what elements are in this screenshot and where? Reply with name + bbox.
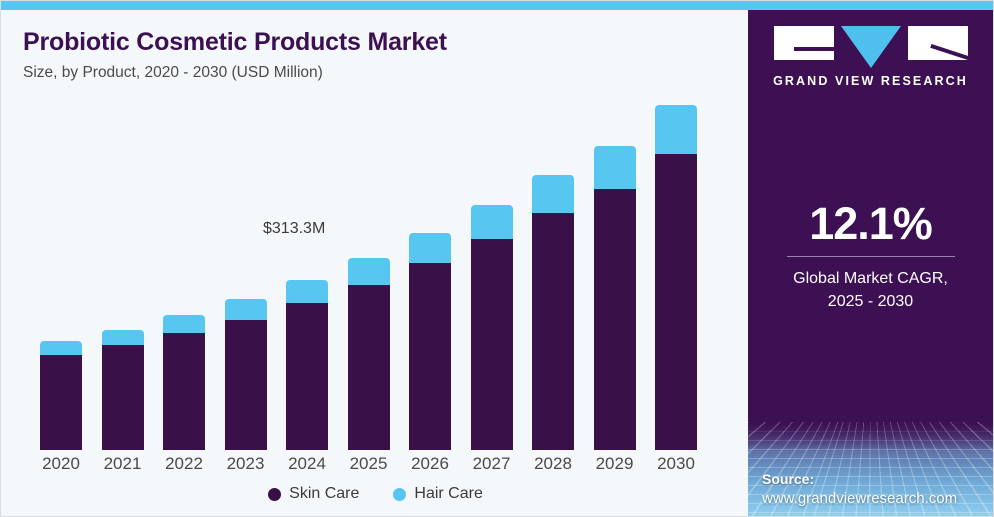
x-axis-tick-2021: 2021 xyxy=(95,454,151,474)
legend-item-hair-care[interactable]: Hair Care xyxy=(393,485,482,503)
cagr-divider xyxy=(787,256,955,257)
bar-segment-skin-care-2022[interactable] xyxy=(163,333,205,450)
cagr-value: 12.1% xyxy=(748,200,993,247)
bar-segment-skin-care-2029[interactable] xyxy=(594,189,636,450)
bar-segment-skin-care-2030[interactable] xyxy=(655,154,697,450)
legend-item-skin-care[interactable]: Skin Care xyxy=(268,485,359,503)
bar-segment-hair-care-2024[interactable] xyxy=(286,280,328,303)
x-axis-tick-2025: 2025 xyxy=(341,454,397,474)
x-axis-tick-2023: 2023 xyxy=(218,454,274,474)
bar-2027[interactable] xyxy=(471,205,513,450)
legend-swatch-icon xyxy=(393,488,406,501)
bar-segment-hair-care-2028[interactable] xyxy=(532,175,574,214)
page-subtitle: Size, by Product, 2020 - 2030 (USD Milli… xyxy=(23,64,323,82)
bar-2025[interactable] xyxy=(348,258,390,450)
x-axis-tick-2027: 2027 xyxy=(464,454,520,474)
data-label-2024: $313.3M xyxy=(263,220,325,238)
bar-segment-skin-care-2020[interactable] xyxy=(40,355,82,450)
bar-2030[interactable] xyxy=(655,105,697,450)
page-title: Probiotic Cosmetic Products Market xyxy=(23,28,447,57)
plot-area: $313.3M xyxy=(1,90,750,450)
bar-segment-hair-care-2022[interactable] xyxy=(163,315,205,333)
cagr-callout: 12.1% Global Market CAGR, 2025 - 2030 xyxy=(748,200,993,314)
bar-2028[interactable] xyxy=(532,175,574,450)
x-axis-tick-2020: 2020 xyxy=(33,454,89,474)
x-axis-tick-2022: 2022 xyxy=(156,454,212,474)
bar-segment-hair-care-2030[interactable] xyxy=(655,105,697,154)
bar-segment-skin-care-2025[interactable] xyxy=(348,285,390,450)
x-axis-tick-2028: 2028 xyxy=(525,454,581,474)
triangle-v-icon xyxy=(841,26,901,68)
bar-segment-hair-care-2025[interactable] xyxy=(348,258,390,285)
bar-segment-hair-care-2023[interactable] xyxy=(225,299,267,320)
bar-2024[interactable] xyxy=(286,280,328,450)
bar-segment-skin-care-2027[interactable] xyxy=(471,239,513,450)
bar-segment-skin-care-2023[interactable] xyxy=(225,320,267,450)
bar-2026[interactable] xyxy=(409,233,451,450)
bar-segment-skin-care-2024[interactable] xyxy=(286,303,328,450)
brand-side-panel: GRAND VIEW RESEARCH 12.1% Global Market … xyxy=(748,10,993,517)
cagr-caption-line-1: Global Market CAGR, xyxy=(748,267,993,290)
bar-segment-skin-care-2021[interactable] xyxy=(102,345,144,450)
source-block: Source: www.grandviewresearch.com xyxy=(762,470,957,508)
x-axis: 2020202120222023202420252026202720282029… xyxy=(1,450,750,482)
bar-segment-hair-care-2020[interactable] xyxy=(40,341,82,355)
logo-wordmark: GRAND VIEW RESEARCH xyxy=(748,74,993,88)
bar-2021[interactable] xyxy=(102,330,144,450)
source-footer: Source: www.grandviewresearch.com xyxy=(748,422,993,517)
bar-segment-hair-care-2021[interactable] xyxy=(102,330,144,345)
letter-g-icon xyxy=(774,26,834,60)
bar-2023[interactable] xyxy=(225,299,267,450)
bar-segment-hair-care-2027[interactable] xyxy=(471,205,513,239)
source-label: Source: xyxy=(762,470,957,488)
logo-marks xyxy=(748,26,993,62)
x-axis-tick-2026: 2026 xyxy=(402,454,458,474)
legend-label: Skin Care xyxy=(289,485,359,503)
x-axis-tick-2024: 2024 xyxy=(279,454,335,474)
bar-segment-skin-care-2026[interactable] xyxy=(409,263,451,450)
bar-segment-hair-care-2029[interactable] xyxy=(594,146,636,189)
letter-r-icon xyxy=(908,26,968,60)
chart-legend: Skin CareHair Care xyxy=(1,485,750,503)
footer-gradient-fade xyxy=(748,422,993,452)
cagr-caption-line-2: 2025 - 2030 xyxy=(748,290,993,313)
gvr-logo: GRAND VIEW RESEARCH xyxy=(748,26,993,88)
bar-2029[interactable] xyxy=(594,146,636,450)
x-axis-tick-2029: 2029 xyxy=(587,454,643,474)
legend-swatch-icon xyxy=(268,488,281,501)
bar-2022[interactable] xyxy=(163,315,205,450)
chart-screenshot: Probiotic Cosmetic Products Market Size,… xyxy=(0,0,994,517)
legend-label: Hair Care xyxy=(414,485,482,503)
source-url[interactable]: www.grandviewresearch.com xyxy=(762,489,957,509)
x-axis-tick-2030: 2030 xyxy=(648,454,704,474)
top-accent-bar xyxy=(1,1,994,10)
cagr-caption: Global Market CAGR, 2025 - 2030 xyxy=(748,267,993,313)
bar-segment-skin-care-2028[interactable] xyxy=(532,213,574,450)
chart-panel: Probiotic Cosmetic Products Market Size,… xyxy=(1,10,750,517)
bar-segment-hair-care-2026[interactable] xyxy=(409,233,451,263)
bar-2020[interactable] xyxy=(40,341,82,450)
